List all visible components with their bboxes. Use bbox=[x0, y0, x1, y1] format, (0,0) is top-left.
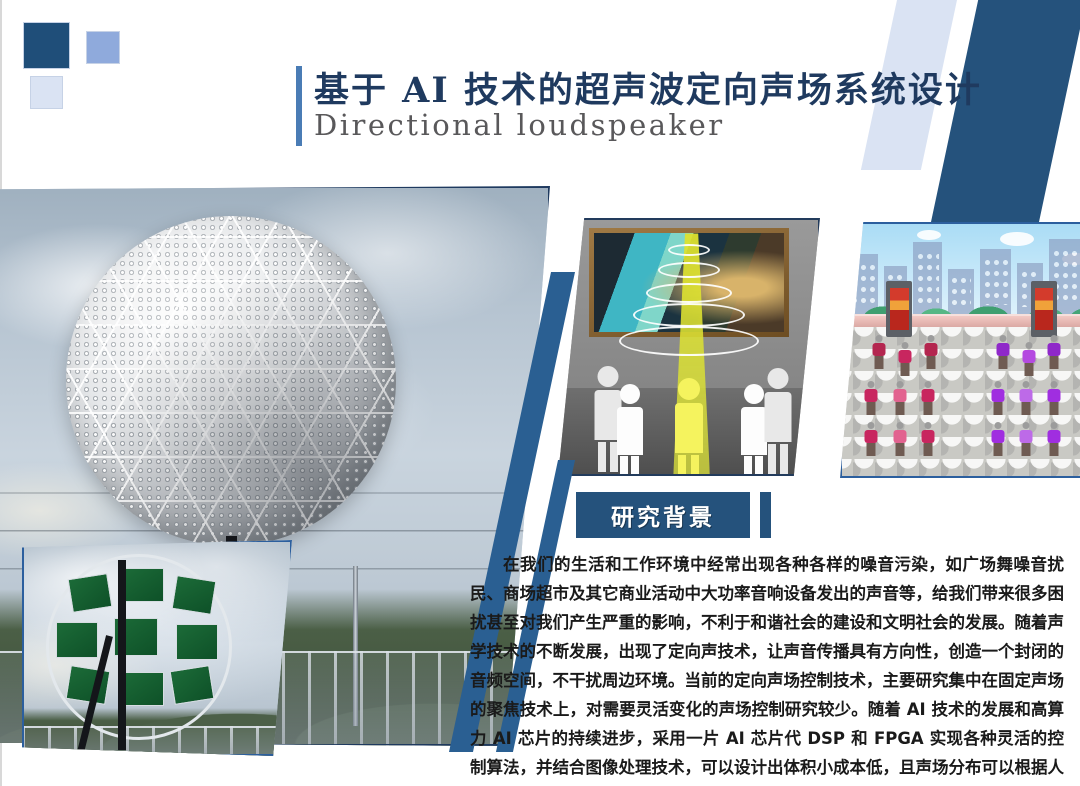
figure-leg bbox=[631, 456, 639, 476]
railing-inset bbox=[22, 726, 292, 756]
figure-leg bbox=[598, 442, 606, 472]
listener-outside-beam bbox=[764, 368, 792, 474]
dancer-head bbox=[999, 335, 1006, 342]
pcb-panel bbox=[56, 622, 98, 658]
figure-head bbox=[768, 368, 789, 389]
dancer-purple bbox=[1046, 335, 1062, 369]
section-heading-tick bbox=[760, 492, 771, 538]
listener-outside-beam bbox=[740, 384, 768, 476]
dancer-body bbox=[921, 389, 934, 402]
sound-beam-cone bbox=[673, 233, 710, 476]
figure-head bbox=[598, 366, 619, 387]
figure-leg bbox=[610, 442, 618, 472]
figure-leg bbox=[744, 456, 752, 476]
figure-head bbox=[620, 384, 640, 404]
dancer-legs bbox=[1050, 443, 1059, 456]
pcb-panel bbox=[176, 624, 218, 660]
dancer-head bbox=[896, 422, 903, 429]
sound-wave-ring bbox=[668, 244, 710, 256]
dancer-purple bbox=[1046, 381, 1062, 415]
digital-kiosk bbox=[886, 281, 912, 337]
dancer-body bbox=[991, 389, 1004, 402]
cloud bbox=[1000, 232, 1034, 246]
dancer-purple bbox=[990, 422, 1006, 456]
wall-display-screen bbox=[594, 233, 783, 331]
dancer-red bbox=[863, 381, 879, 415]
figure-leg bbox=[691, 455, 699, 476]
building bbox=[1017, 263, 1043, 317]
building bbox=[847, 254, 879, 317]
dancer-legs bbox=[1022, 402, 1031, 415]
hills-inset bbox=[22, 708, 292, 756]
research-background-body: 在我们的生活和工作环境中经常出现各种各样的噪音污染，如广场舞噪音扰民、商场超市及… bbox=[470, 550, 1064, 786]
dancer-legs bbox=[895, 402, 904, 415]
dancer-red bbox=[923, 335, 939, 369]
dancer-legs bbox=[1024, 363, 1033, 376]
dancer-red bbox=[871, 335, 887, 369]
dancer-red bbox=[863, 422, 879, 456]
dancer-legs bbox=[923, 402, 932, 415]
dancer-head bbox=[924, 422, 931, 429]
listener-in-beam bbox=[674, 378, 704, 476]
dancer-body bbox=[1048, 430, 1061, 443]
dancer-purple bbox=[990, 381, 1006, 415]
dancer-red bbox=[897, 342, 913, 376]
sound-wave-ring bbox=[646, 283, 732, 303]
plaza-wall bbox=[840, 314, 1080, 327]
dancer-body bbox=[1020, 430, 1033, 443]
building bbox=[980, 249, 1012, 317]
dark-blue-square bbox=[23, 22, 70, 69]
figure-leg bbox=[620, 456, 628, 476]
pcb-panel bbox=[68, 573, 113, 613]
building bbox=[913, 242, 942, 316]
pcb-panel bbox=[172, 575, 217, 615]
dancer-body bbox=[991, 430, 1004, 443]
dancer-red bbox=[892, 422, 908, 456]
dancer-head bbox=[994, 422, 1001, 429]
dancer-legs bbox=[874, 356, 883, 369]
sound-wave-ring bbox=[619, 326, 759, 356]
dark-slanted-bar bbox=[930, 0, 1080, 228]
dancer-head bbox=[1023, 422, 1030, 429]
wall-display-frame bbox=[589, 228, 788, 336]
dancer-body bbox=[1048, 389, 1061, 402]
figure-head bbox=[744, 384, 764, 404]
sound-wave-ring bbox=[658, 262, 720, 278]
dancer-legs bbox=[1050, 356, 1059, 369]
dancer-body bbox=[893, 389, 906, 402]
pcb-panel bbox=[122, 568, 164, 602]
sound-wave-ring bbox=[633, 303, 745, 327]
figure-body bbox=[741, 407, 767, 455]
poster-canvas: 基于 AI 技术的超声波定向声场系统设计 Directional loudspe… bbox=[0, 0, 1080, 786]
mid-blue-square bbox=[86, 31, 120, 64]
dancer-head bbox=[1051, 422, 1058, 429]
pcb-panel bbox=[66, 665, 111, 705]
cloud bbox=[917, 230, 941, 240]
figure-body bbox=[765, 392, 792, 442]
building bbox=[884, 266, 907, 317]
title-accent-bar bbox=[296, 66, 302, 146]
plaza-pavement bbox=[840, 327, 1080, 478]
dancer-head bbox=[1023, 381, 1030, 388]
dancer-head bbox=[896, 381, 903, 388]
transducer-sphere-rear-photo bbox=[22, 540, 292, 756]
building bbox=[1049, 239, 1080, 317]
dancer-head bbox=[924, 381, 931, 388]
hedge-row bbox=[840, 294, 1080, 320]
dancer-head bbox=[1051, 335, 1058, 342]
square-dance-plaza-illustration bbox=[840, 222, 1080, 478]
dancer-red bbox=[892, 381, 908, 415]
dancer-body bbox=[921, 430, 934, 443]
page-title-english: Directional loudspeaker bbox=[314, 108, 725, 142]
dancer-legs bbox=[993, 402, 1002, 415]
city-skyline bbox=[840, 232, 1080, 316]
figure-body bbox=[595, 390, 622, 440]
dancer-legs bbox=[926, 356, 935, 369]
dancer-legs bbox=[895, 443, 904, 456]
pcb-panel bbox=[114, 618, 158, 656]
figure-leg bbox=[755, 456, 763, 476]
dancer-body bbox=[865, 389, 878, 402]
dancer-legs bbox=[867, 443, 876, 456]
section-heading-label: 研究背景 bbox=[576, 492, 750, 538]
dancer-purple bbox=[995, 335, 1011, 369]
dancer-body bbox=[1020, 389, 1033, 402]
dancer-body bbox=[1048, 343, 1061, 356]
sphere-ring-frame bbox=[46, 554, 232, 740]
building bbox=[948, 269, 974, 316]
dancer-purple bbox=[1021, 342, 1037, 376]
dancer-head bbox=[994, 381, 1001, 388]
dancer-legs bbox=[923, 443, 932, 456]
room-floor bbox=[558, 388, 820, 476]
dancer-legs bbox=[867, 402, 876, 415]
sky-background-inset bbox=[22, 540, 292, 756]
dancer-legs bbox=[1022, 443, 1031, 456]
dancer-head bbox=[1025, 342, 1032, 349]
dancer-head bbox=[875, 335, 882, 342]
light-blue-square bbox=[30, 76, 63, 109]
tripod-leg-left-inset bbox=[77, 635, 113, 753]
room-wall bbox=[558, 218, 820, 388]
dancer-body bbox=[898, 350, 911, 363]
building bbox=[840, 273, 841, 317]
dancer-red bbox=[920, 381, 936, 415]
figure-leg bbox=[768, 444, 776, 474]
dancer-purple bbox=[1018, 422, 1034, 456]
dancer-body bbox=[1022, 350, 1035, 363]
dancer-purple bbox=[1018, 381, 1034, 415]
dancer-body bbox=[996, 343, 1009, 356]
tripod-mast-inset bbox=[118, 560, 126, 750]
sky-with-city bbox=[840, 222, 1080, 317]
directional-sound-beam-illustration bbox=[558, 218, 820, 476]
dancer-body bbox=[865, 430, 878, 443]
pcb-panel bbox=[170, 665, 215, 705]
figure-head bbox=[678, 378, 700, 400]
page-title-chinese: 基于 AI 技术的超声波定向声场系统设计 bbox=[314, 62, 974, 113]
figure-body bbox=[675, 403, 703, 453]
dancer-legs bbox=[1050, 402, 1059, 415]
dancer-head bbox=[868, 381, 875, 388]
dancer-head bbox=[868, 422, 875, 429]
dancer-head bbox=[927, 335, 934, 342]
dancer-legs bbox=[900, 363, 909, 376]
dancer-body bbox=[924, 343, 937, 356]
dancer-legs bbox=[998, 356, 1007, 369]
dancer-body bbox=[893, 430, 906, 443]
figure-leg bbox=[780, 444, 788, 474]
transducer-sphere bbox=[66, 216, 396, 546]
dancer-head bbox=[901, 342, 908, 349]
digital-kiosk bbox=[1031, 281, 1057, 337]
figure-leg bbox=[678, 455, 686, 476]
listener-outside-beam bbox=[594, 366, 622, 472]
dancer-red bbox=[920, 422, 936, 456]
sphere-shading bbox=[66, 216, 396, 546]
listener-outside-beam bbox=[616, 384, 644, 476]
pcb-panel bbox=[122, 672, 164, 706]
cloud bbox=[1062, 253, 1080, 265]
dancer-head bbox=[1051, 381, 1058, 388]
figure-body bbox=[617, 407, 643, 455]
dancer-purple bbox=[1046, 422, 1062, 456]
dancer-body bbox=[872, 343, 885, 356]
dancer-legs bbox=[993, 443, 1002, 456]
